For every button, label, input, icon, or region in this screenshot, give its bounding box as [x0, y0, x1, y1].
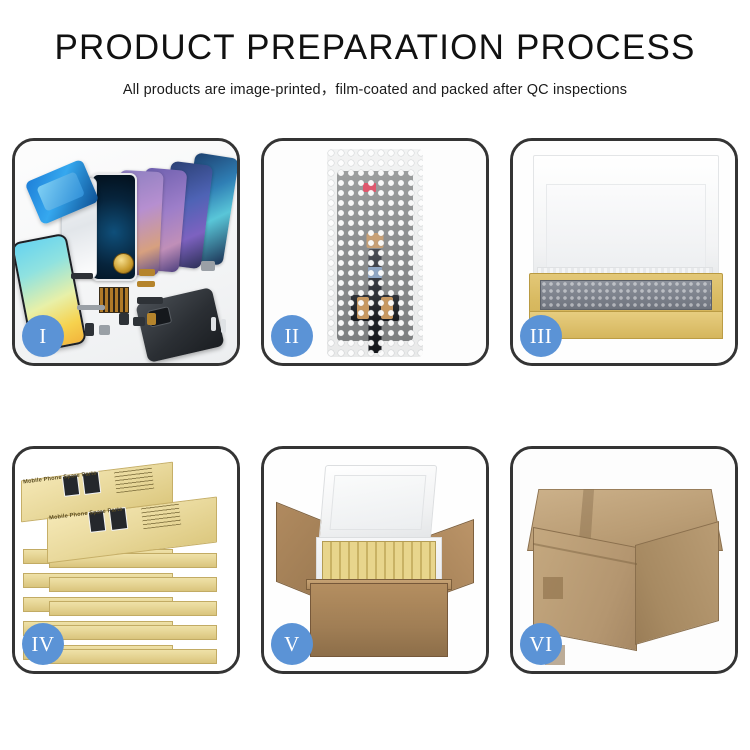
- spare-part-icon: [77, 305, 105, 310]
- step-badge-1: I: [22, 315, 64, 357]
- foam-lid-icon: [319, 465, 437, 539]
- stacked-box-icon: [49, 649, 217, 664]
- step-badge-6: VI: [520, 623, 562, 665]
- spare-part-icon: [71, 273, 93, 279]
- header: PRODUCT PREPARATION PROCESS All products…: [0, 0, 750, 99]
- screw-icon: [221, 319, 226, 333]
- flex-cable-icon: [139, 269, 155, 276]
- step-panel-3: III: [510, 138, 738, 366]
- step-badge-4: IV: [22, 623, 64, 665]
- copper-coil-icon: [113, 253, 134, 274]
- box-spec-lines: [114, 467, 154, 493]
- spare-part-icon: [201, 261, 215, 271]
- bubble-texture-overlay: [327, 149, 423, 357]
- flex-cable-icon: [137, 297, 163, 304]
- carton-tape-mark: [543, 577, 563, 599]
- stacked-box-icon: [49, 625, 217, 640]
- carton-body: [310, 583, 448, 657]
- page-title: PRODUCT PREPARATION PROCESS: [0, 30, 750, 67]
- box-spec-lines: [141, 503, 181, 529]
- infographic-page: PRODUCT PREPARATION PROCESS All products…: [0, 0, 750, 750]
- step-panel-1: I: [12, 138, 240, 366]
- spare-part-icon: [119, 313, 129, 325]
- box-lid-icon: [533, 155, 719, 285]
- step-badge-3: III: [520, 315, 562, 357]
- stacked-box-icon: [49, 577, 217, 592]
- spare-part-icon: [147, 313, 156, 325]
- box-lid-inner: [546, 184, 706, 278]
- step-panel-6: VI: [510, 446, 738, 674]
- step-panel-2: II: [261, 138, 489, 366]
- screw-icon: [211, 317, 216, 331]
- foam-lid-inner: [330, 475, 427, 530]
- step-badge-5: V: [271, 623, 313, 665]
- stacked-box-icon: [49, 601, 217, 616]
- page-subtitle: All products are image-printed，film-coat…: [0, 78, 750, 99]
- spare-part-icon: [99, 325, 110, 335]
- flex-cable-icon: [137, 281, 155, 287]
- wrapped-contents-icon: [540, 280, 712, 310]
- step-panel-5: V: [261, 446, 489, 674]
- spare-part-icon: [133, 317, 145, 326]
- gold-boxes-in-carton: [322, 541, 436, 583]
- step-panel-4: Mobile Phone Spare Parts Mobile Phone Sp…: [12, 446, 240, 674]
- bubble-wrap-bag: [327, 149, 423, 357]
- spare-part-icon: [85, 323, 94, 336]
- process-step-grid: I II: [12, 138, 738, 674]
- step-badge-2: II: [271, 315, 313, 357]
